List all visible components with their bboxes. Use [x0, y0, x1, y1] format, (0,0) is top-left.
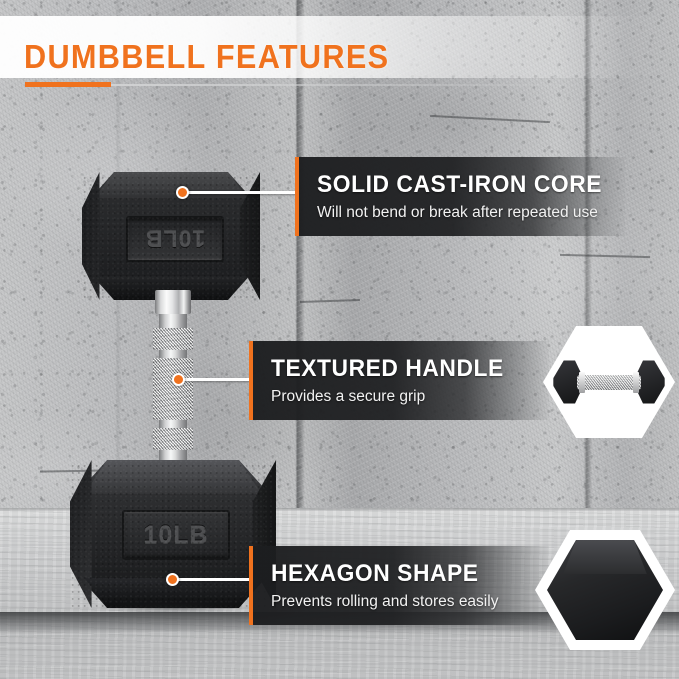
handle-shaft-mid-upper [159, 350, 187, 358]
callout-line-1 [186, 191, 298, 194]
top-plate-facet-top [82, 172, 260, 198]
title-underline-thin [111, 84, 611, 86]
callout-dot-1 [176, 186, 189, 199]
feature-title-3: HEXAGON SHAPE [271, 560, 535, 588]
feature-panel-textured-handle[interactable]: TEXTURED HANDLE Provides a secure grip [249, 341, 549, 420]
weight-label-top: 10LB [126, 216, 224, 262]
feature-subtitle-1: Will not bend or break after repeated us… [317, 204, 625, 222]
bottom-plate-facet-top [70, 460, 276, 494]
mini-collar-left [579, 372, 585, 393]
inset-hexagon-dumbbell-end [547, 540, 663, 640]
feature-subtitle-3: Prevents rolling and stores easily [271, 593, 549, 611]
infographic-canvas: DUMBBELL FEATURES 10LB [0, 0, 679, 679]
callout-line-3 [176, 578, 252, 581]
title-underline-accent [25, 82, 111, 87]
feature-panel-solid-cast-iron-core[interactable]: SOLID CAST-IRON CORE Will not bend or br… [295, 157, 625, 236]
feature-panel-hexagon-shape[interactable]: HEXAGON SHAPE Prevents rolling and store… [249, 546, 549, 625]
callout-dot-2 [172, 373, 185, 386]
mini-dumbbell-side-view [551, 333, 667, 431]
callout-dot-3 [166, 573, 179, 586]
handle-shaft-mid-lower [159, 420, 187, 428]
feature-title-2: TEXTURED HANDLE [271, 355, 535, 383]
handle-knurl-band-top [153, 328, 193, 350]
page-title: DUMBBELL FEATURES [24, 38, 389, 76]
handle-collar-top [155, 290, 191, 314]
mini-dumbbell-knurled-bar [577, 375, 642, 390]
weight-label-bottom: 10LB [122, 510, 230, 560]
callout-line-2 [182, 378, 252, 381]
handle-shaft-upper [159, 314, 187, 328]
header-band: DUMBBELL FEATURES [0, 16, 679, 78]
feature-subtitle-2: Provides a secure grip [271, 388, 549, 406]
handle-knurl-band-bottom [153, 428, 193, 450]
handle-knurl-grip-main [153, 358, 193, 420]
inset-hexagon-top-facet [547, 540, 663, 574]
mini-dumbbell-head-right [637, 360, 665, 403]
mini-collar-right [633, 372, 639, 393]
feature-title-1: SOLID CAST-IRON CORE [317, 171, 610, 199]
inset-handle-photo [551, 333, 667, 431]
